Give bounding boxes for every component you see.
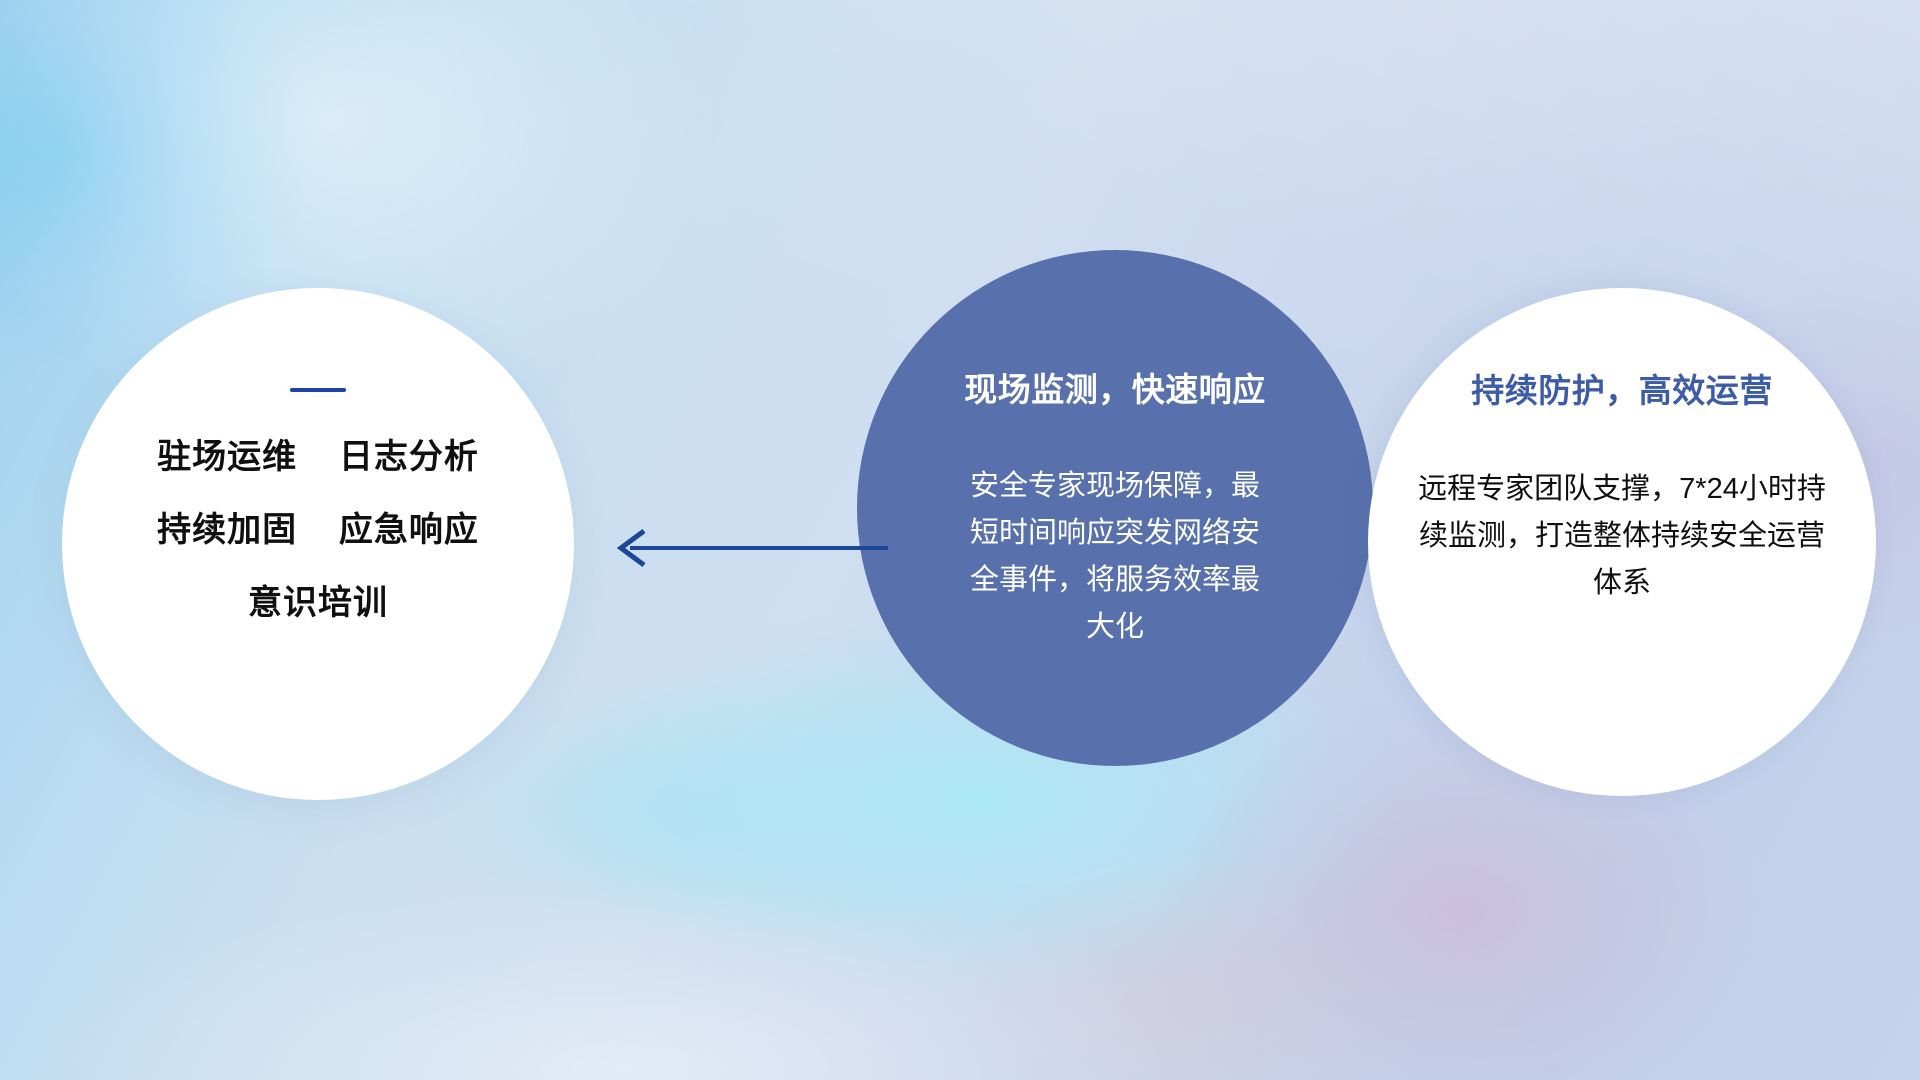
capability-line-3: 意识培训 [248,586,388,620]
onsite-body: 安全专家现场保障，最短时间响应突发网络安全事件，将服务效率最大化 [960,463,1270,651]
flow-arrow [600,520,890,578]
capability-circle: 驻场运维 日志分析 持续加固 应急响应 意识培训 [62,288,574,800]
onsite-title: 现场监测，快速响应 [964,363,1266,411]
onsite-circle: 现场监测，快速响应 安全专家现场保障，最短时间响应突发网络安全事件，将服务效率最… [857,250,1373,766]
capability-line-1: 驻场运维 日志分析 [157,440,479,474]
continuous-title: 持续防护，高效运营 [1471,364,1773,412]
slide-canvas: 驻场运维 日志分析 持续加固 应急响应 意识培训 现场监测，快速响应 安全专家现… [0,0,1920,1080]
capability-line-2: 持续加固 应急响应 [157,513,479,547]
continuous-body: 远程专家团队支撑，7*24小时持续监测，打造整体持续安全运营体系 [1412,466,1832,607]
continuous-circle: 持续防护，高效运营 远程专家团队支撑，7*24小时持续监测，打造整体持续安全运营… [1368,288,1876,796]
divider-line [290,388,346,392]
